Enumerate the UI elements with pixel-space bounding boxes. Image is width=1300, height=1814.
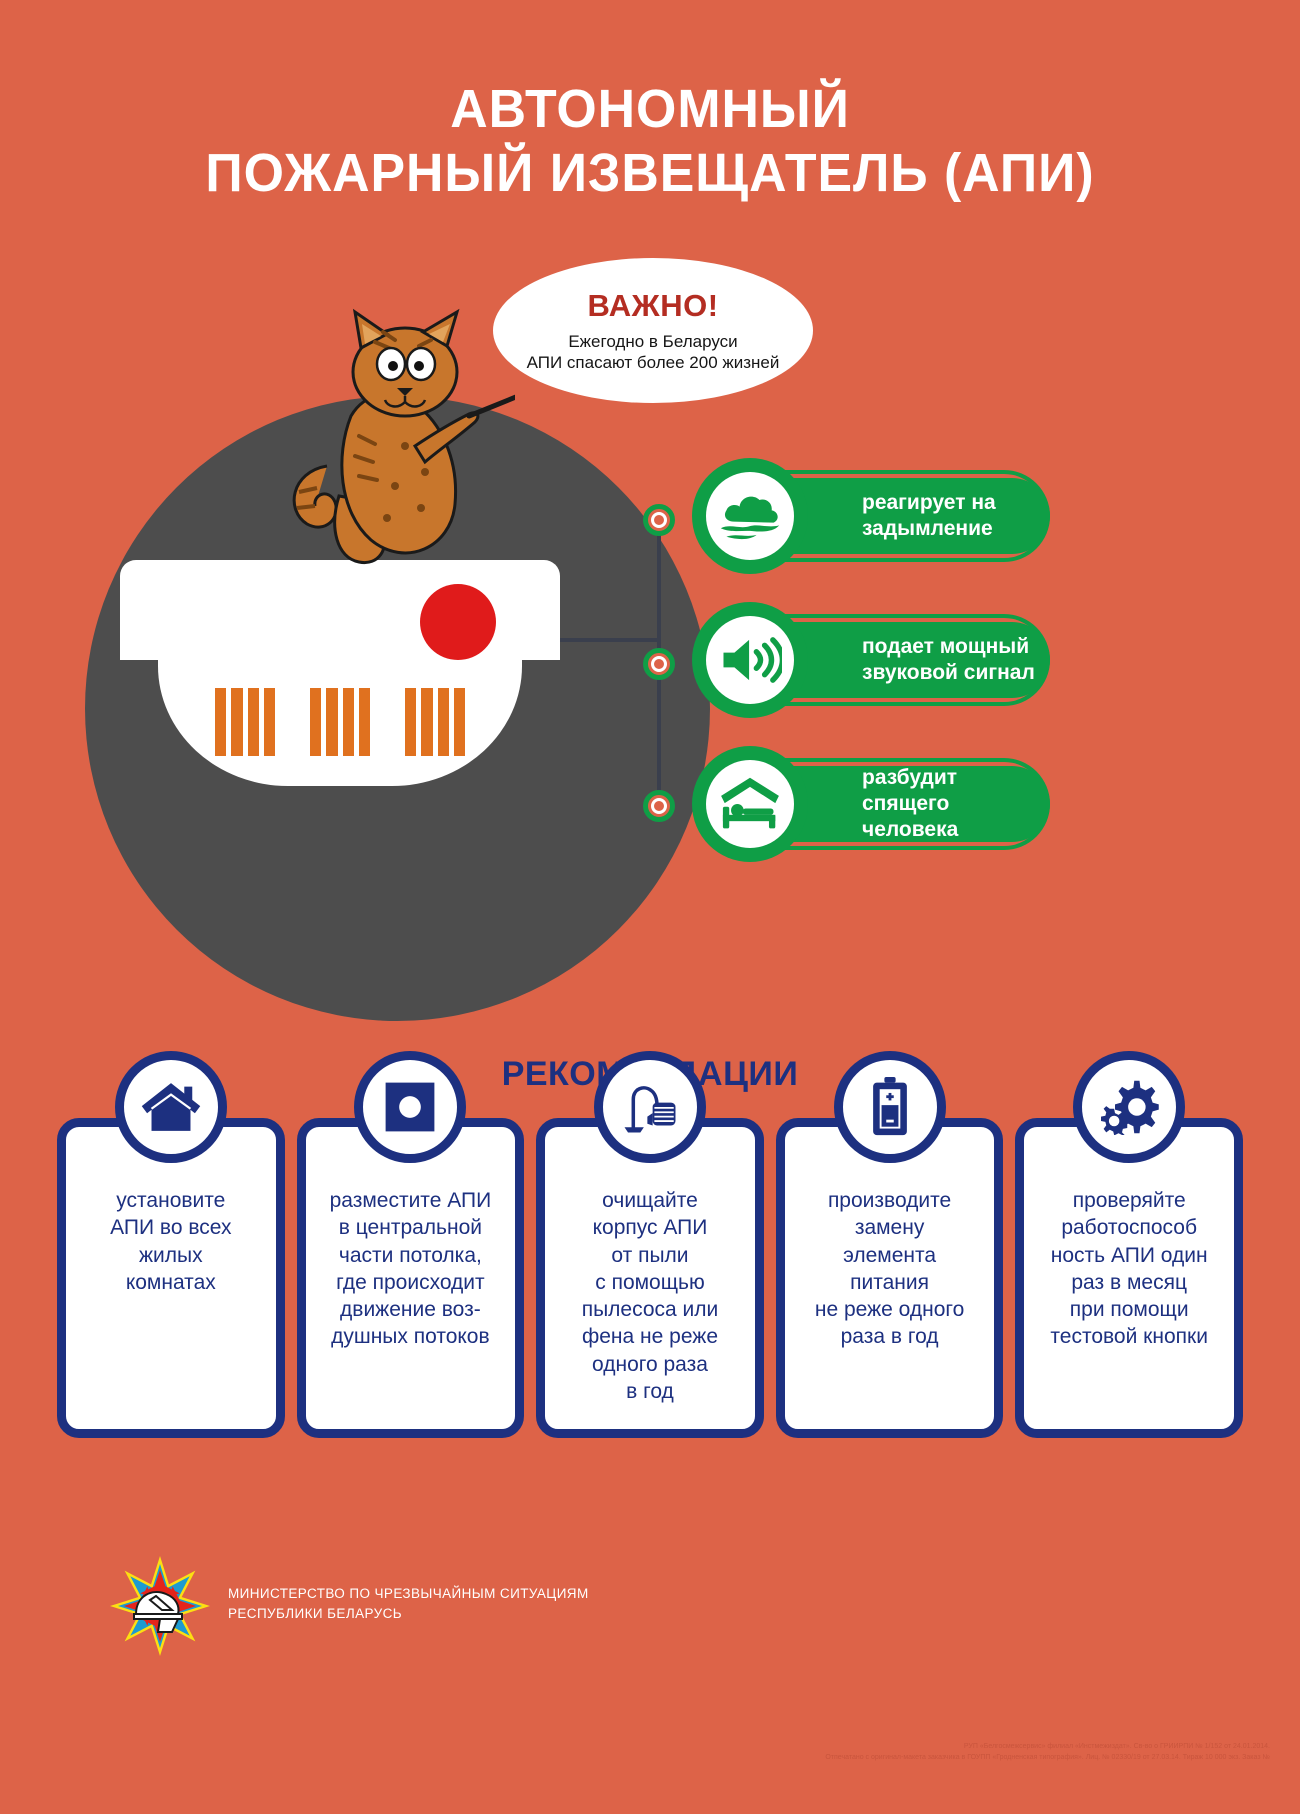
battery-icon [834, 1051, 946, 1163]
imprint-text: РУП «Белгосмежсервис» филиал «Инстмежизд… [570, 1742, 1270, 1763]
title-line-1: АВТОНОМНЫЙ [26, 78, 1274, 142]
house-icon [115, 1051, 227, 1163]
feature-item-wakeup: разбудит спящего человека [692, 756, 1050, 852]
cat-mascot-illustration [255, 296, 515, 576]
detector-vent-left [215, 688, 275, 756]
recommendation-text: проверяйтеработоспособность АПИ одинраз … [1024, 1187, 1234, 1351]
recommendation-card: производитезаменуэлементапитанияне реже … [776, 1118, 1004, 1438]
bubble-line-2: АПИ спасают более 200 жизней [527, 352, 780, 373]
detector-led-indicator [420, 584, 496, 660]
footer: МИНИСТЕРСТВО ПО ЧРЕЗВЫЧАЙНЫМ СИТУАЦИЯМ Р… [110, 1556, 810, 1666]
feature-icon-ring [692, 746, 808, 862]
smoke-detector-illustration [120, 560, 560, 790]
ministry-line-1: МИНИСТЕРСТВО ПО ЧРЕЗВЫЧАЙНЫМ СИТУАЦИЯМ [228, 1584, 589, 1604]
recommendation-text: разместите АПИв центральнойчасти потолка… [306, 1187, 516, 1351]
feature-icon-ring [692, 602, 808, 718]
mchs-emblem-logo [110, 1556, 210, 1656]
connector-node-1 [643, 504, 675, 536]
title-line-2: ПОЖАРНЫЙ ИЗВЕЩАТЕЛЬ (АПИ) [26, 142, 1274, 206]
speaker-volume-icon [706, 616, 794, 704]
page-title: АВТОНОМНЫЙ ПОЖАРНЫЙ ИЗВЕЩАТЕЛЬ (АПИ) [26, 78, 1274, 205]
imprint-line-2: Отпечатано с оригинал-макета заказчика в… [570, 1753, 1270, 1764]
feature-label-line-1: разбудит спящего [862, 765, 1050, 818]
feature-label-line-2: человека [862, 817, 1050, 843]
connector-node-3 [643, 790, 675, 822]
detector-vent-right [405, 688, 465, 756]
smoke-cloud-icon [706, 472, 794, 560]
important-callout-bubble: ВАЖНО! Ежегодно в Беларуси АПИ спасают б… [493, 258, 813, 403]
feature-label-line-2: задымление [862, 516, 996, 542]
feature-label-line-1: реагирует на [862, 490, 996, 516]
sleeping-person-bed-icon [706, 760, 794, 848]
recommendation-text: установитеАПИ во всехжилыхкомнатах [66, 1187, 276, 1296]
ministry-label: МИНИСТЕРСТВО ПО ЧРЕЗВЫЧАЙНЫМ СИТУАЦИЯМ Р… [228, 1584, 589, 1625]
recommendation-cards: установитеАПИ во всехжилыхкомнатах разме… [57, 1118, 1243, 1438]
detector-vent-center [310, 688, 370, 756]
imprint-line-1: РУП «Белгосмежсервис» филиал «Инстмежизд… [570, 1742, 1270, 1753]
poster-root: АВТОНОМНЫЙ ПОЖАРНЫЙ ИЗВЕЩАТЕЛЬ (АПИ) [0, 0, 1300, 1814]
feature-item-smoke: реагирует на задымление [692, 468, 1050, 564]
bubble-heading: ВАЖНО! [587, 288, 718, 324]
feature-item-sound: подает мощный звуковой сигнал [692, 612, 1050, 708]
feature-connector-lines [560, 480, 690, 850]
feature-label-line-2: звуковой сигнал [862, 660, 1035, 686]
recommendation-card: очищайтекорпус АПИот пылис помощьюпылесо… [536, 1118, 764, 1438]
connector-horizontal [560, 638, 660, 642]
recommendation-text: производитезаменуэлементапитанияне реже … [785, 1187, 995, 1351]
bubble-line-1: Ежегодно в Беларуси [568, 331, 737, 352]
ministry-line-2: РЕСПУБЛИКИ БЕЛАРУСЬ [228, 1604, 589, 1624]
recommendation-card: разместите АПИв центральнойчасти потолка… [297, 1118, 525, 1438]
recommendation-text: очищайтекорпус АПИот пылис помощьюпылесо… [545, 1187, 755, 1405]
recommendation-card: установитеАПИ во всехжилыхкомнатах [57, 1118, 285, 1438]
vacuum-cleaner-icon [594, 1051, 706, 1163]
recommendation-card: проверяйтеработоспособность АПИ одинраз … [1015, 1118, 1243, 1438]
feature-label-line-1: подает мощный [862, 634, 1035, 660]
ceiling-detector-icon [354, 1051, 466, 1163]
gears-icon [1073, 1051, 1185, 1163]
connector-node-2 [643, 648, 675, 680]
feature-icon-ring [692, 458, 808, 574]
